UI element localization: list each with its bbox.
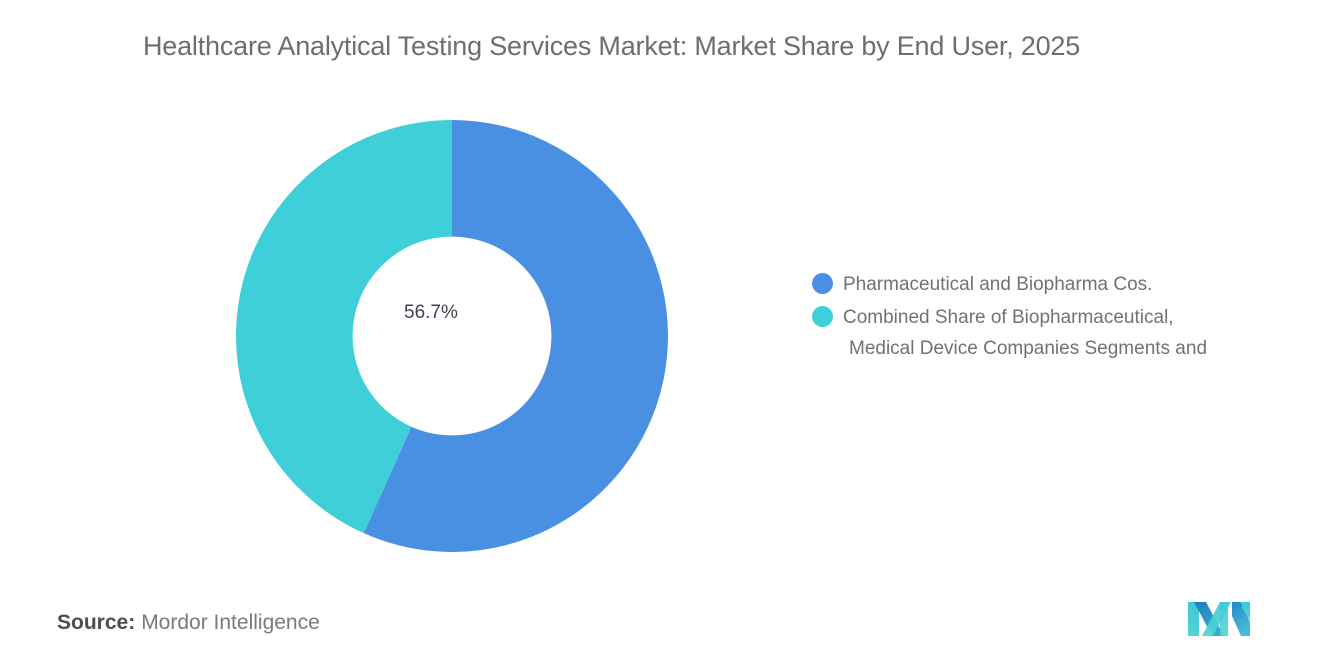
mordor-intelligence-logo-icon [1186, 598, 1252, 638]
legend-label-combined-share-line1: Combined Share of Biopharmaceutical, [843, 307, 1174, 328]
legend-item-combined-share[interactable]: Combined Share of Biopharmaceutical, Med… [812, 302, 1282, 364]
source-attribution: Source:Mordor Intelligence [57, 611, 320, 635]
legend-label-combined-share-line2: Medical Device Companies Segments and [843, 333, 1207, 364]
legend-swatch-icon-pharmaceutical [812, 273, 833, 294]
legend-item-pharmaceutical[interactable]: Pharmaceutical and Biopharma Cos. [812, 269, 1282, 300]
page-title: Healthcare Analytical Testing Services M… [143, 31, 1080, 62]
chart-legend: Pharmaceutical and Biopharma Cos. Combin… [812, 269, 1282, 366]
source-label: Source: [57, 611, 135, 634]
source-value: Mordor Intelligence [141, 611, 320, 634]
donut-chart-svg [236, 120, 668, 552]
logo-svg [1186, 598, 1252, 638]
donut-hole [353, 237, 552, 436]
donut-chart: 56.7% [236, 120, 668, 552]
legend-swatch-icon-combined-share [812, 306, 833, 327]
legend-label-combined-share: Combined Share of Biopharmaceutical, Med… [843, 302, 1207, 364]
legend-label-pharmaceutical: Pharmaceutical and Biopharma Cos. [843, 269, 1152, 300]
